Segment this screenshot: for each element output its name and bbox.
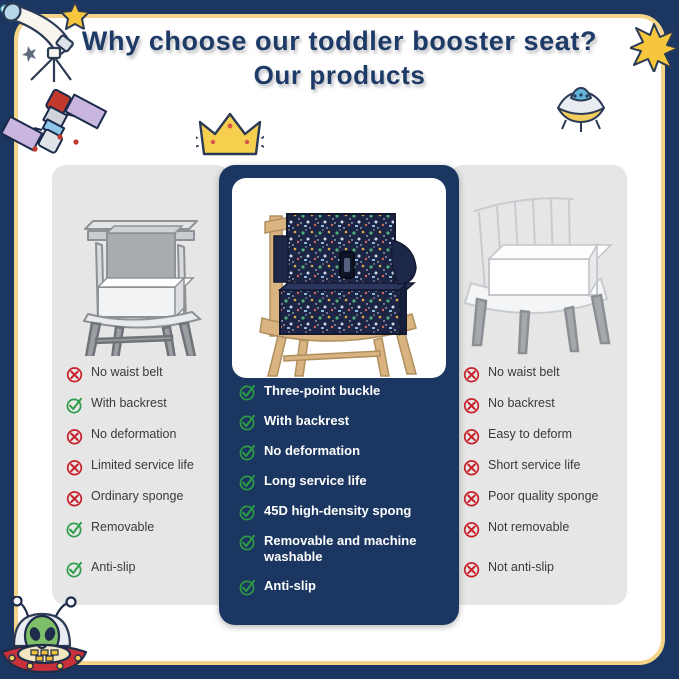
feature-row: Limited service life (66, 458, 220, 476)
feature-label: Easy to deform (488, 427, 572, 442)
check-icon (66, 561, 83, 578)
competitor-right-column: No waist beltNo backrestEasy to deformSh… (449, 165, 627, 605)
competitor-left-column: No waist beltWith backrestNo deformation… (52, 165, 230, 605)
feature-label: With backrest (264, 413, 349, 429)
feature-label: Anti-slip (91, 560, 135, 575)
competitor-left-photo (52, 171, 230, 356)
feature-row: 45D high-density spong (239, 503, 445, 521)
feature-label: 45D high-density spong (264, 503, 411, 519)
feature-row: Anti-slip (66, 560, 220, 578)
cross-icon (66, 428, 83, 445)
our-product-column[interactable]: Three-point buckleWith backrestNo deform… (219, 165, 459, 625)
cross-icon (463, 561, 480, 578)
feature-label: Anti-slip (264, 578, 316, 594)
teal-dot-icon (0, 0, 10, 18)
check-icon (239, 384, 256, 401)
feature-label: Poor quality sponge (488, 489, 599, 504)
cross-icon (463, 521, 480, 538)
feature-row: Long service life (239, 473, 445, 491)
feature-row: Not removable (463, 520, 617, 538)
competitor-right-feature-list: No waist beltNo backrestEasy to deformSh… (463, 365, 617, 591)
feature-row: With backrest (66, 396, 220, 414)
check-icon (239, 534, 256, 551)
feature-row: No backrest (463, 396, 617, 414)
cross-icon (463, 397, 480, 414)
feature-label: Limited service life (91, 458, 194, 473)
check-icon (239, 414, 256, 431)
feature-row: Poor quality sponge (463, 489, 617, 507)
competitor-right-photo (449, 171, 627, 356)
feature-row: Not anti-slip (463, 560, 617, 578)
feature-label: No waist belt (488, 365, 560, 380)
cross-icon (463, 428, 480, 445)
feature-label: Not removable (488, 520, 569, 535)
feature-row: No deformation (239, 443, 445, 461)
check-icon (239, 474, 256, 491)
feature-label: Removable (91, 520, 154, 535)
cross-icon (463, 459, 480, 476)
feature-row: No waist belt (463, 365, 617, 383)
cross-icon (66, 490, 83, 507)
feature-row: Removable and machine washable (239, 533, 445, 566)
check-icon (66, 397, 83, 414)
our-product-photo (232, 178, 446, 378)
feature-row: Anti-slip (239, 578, 445, 596)
check-icon (239, 444, 256, 461)
feature-label: Short service life (488, 458, 580, 473)
feature-label: No deformation (264, 443, 360, 459)
feature-label: No waist belt (91, 365, 163, 380)
competitor-left-feature-list: No waist beltWith backrestNo deformation… (66, 365, 220, 591)
feature-label: No deformation (91, 427, 176, 442)
check-icon (239, 579, 256, 596)
feature-row: With backrest (239, 413, 445, 431)
check-icon (239, 504, 256, 521)
teal-ring-icon (0, 0, 8, 18)
feature-row: Three-point buckle (239, 383, 445, 401)
cross-icon (463, 490, 480, 507)
comparison-table: No waist beltWith backrestNo deformation… (52, 165, 627, 627)
feature-label: No backrest (488, 396, 555, 411)
check-icon (66, 521, 83, 538)
feature-row: Easy to deform (463, 427, 617, 445)
feature-label: Ordinary sponge (91, 489, 183, 504)
cross-icon (463, 366, 480, 383)
feature-row: No waist belt (66, 365, 220, 383)
feature-row: Short service life (463, 458, 617, 476)
feature-row: No deformation (66, 427, 220, 445)
our-product-feature-list: Three-point buckleWith backrestNo deform… (239, 383, 445, 608)
feature-label: With backrest (91, 396, 167, 411)
feature-label: Long service life (264, 473, 367, 489)
feature-label: Three-point buckle (264, 383, 380, 399)
feature-row: Removable (66, 520, 220, 538)
cross-icon (66, 459, 83, 476)
feature-label: Not anti-slip (488, 560, 554, 575)
feature-row: Ordinary sponge (66, 489, 220, 507)
feature-label: Removable and machine washable (264, 533, 445, 566)
cross-icon (66, 366, 83, 383)
